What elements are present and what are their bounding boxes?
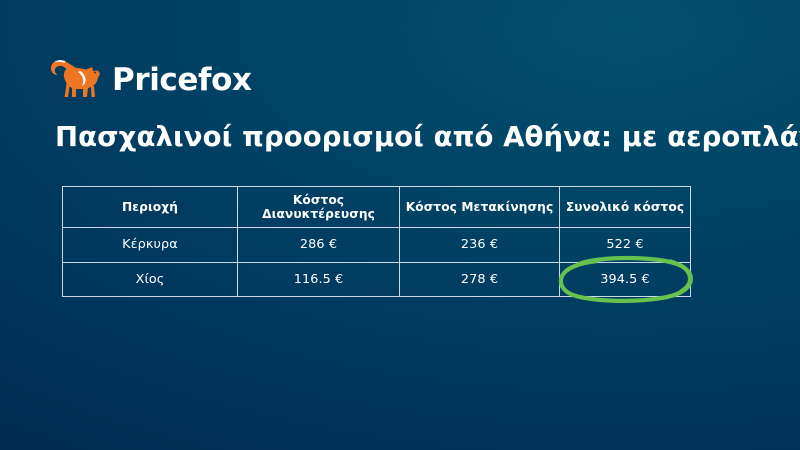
cell-transfer-cost: 236 € [400, 228, 560, 263]
column-header-total: Συνολικό κόστος [560, 187, 691, 228]
column-header-region: Περιοχή [63, 187, 238, 228]
cell-total-cost-highlighted: 394.5 € [560, 262, 691, 297]
pricefox-logo[interactable]: Pricefox [50, 53, 252, 105]
cell-stay-cost: 116.5 € [238, 262, 400, 297]
cell-region: Χίος [63, 262, 238, 297]
cell-region: Κέρκυρα [63, 228, 238, 263]
cell-total-cost-text: 394.5 € [600, 272, 650, 287]
column-header-stay: Κόστος Διανυκτέρευσης [238, 187, 400, 228]
table-row: Κέρκυρα 286 € 236 € 522 € [63, 228, 691, 263]
cell-total-cost-text: 522 € [606, 237, 643, 252]
table-header-row: Περιοχή Κόστος Διανυκτέρευσης Κόστος Μετ… [63, 187, 691, 228]
logo-wordmark: Pricefox [112, 65, 252, 96]
table-row: Χίος 116.5 € 278 € 394.5 € [63, 262, 691, 297]
cell-transfer-cost: 278 € [400, 262, 560, 297]
slide-canvas: Pricefox Πασχαλινοί προορισμοί από Αθήνα… [0, 0, 800, 450]
cost-table-container: Περιοχή Κόστος Διανυκτέρευσης Κόστος Μετ… [62, 186, 690, 296]
cell-total-cost: 522 € [560, 228, 691, 263]
cost-table: Περιοχή Κόστος Διανυκτέρευσης Κόστος Μετ… [62, 186, 691, 297]
column-header-transfer: Κόστος Μετακίνησης [400, 187, 560, 228]
page-title: Πασχαλινοί προορισμοί από Αθήνα: με αερο… [55, 121, 800, 154]
fox-icon [50, 56, 106, 102]
cell-stay-cost: 286 € [238, 228, 400, 263]
